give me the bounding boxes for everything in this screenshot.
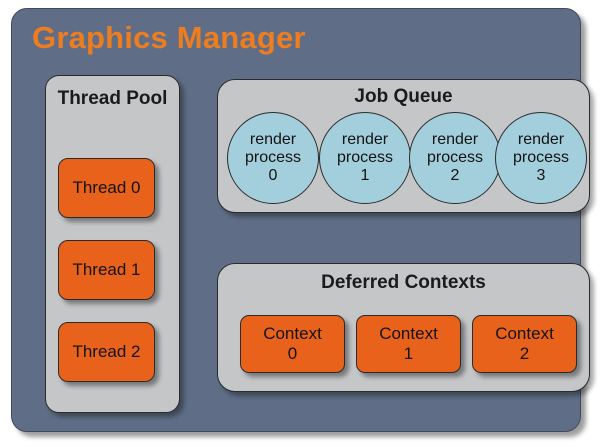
context-box-1[interactable]: Context 1 — [356, 315, 461, 373]
render-process-line2: process — [513, 149, 569, 167]
deferred-contexts-title: Deferred Contexts — [218, 272, 589, 294]
context-box-0[interactable]: Context 0 — [240, 315, 345, 373]
context-index: 0 — [288, 344, 297, 364]
job-queue-panel: Job Queue render process 0 render proces… — [217, 79, 590, 213]
render-process-index: 0 — [269, 167, 278, 185]
render-process-index: 2 — [451, 167, 460, 185]
render-process-node-1[interactable]: render process 1 — [319, 112, 411, 204]
graphics-manager-panel: Graphics Manager Thread Pool Thread 0 Th… — [11, 8, 581, 432]
graphics-manager-title: Graphics Manager — [32, 20, 306, 56]
context-label: Context — [495, 324, 554, 344]
render-process-line1: render — [432, 131, 478, 149]
context-label: Context — [379, 324, 438, 344]
thread-label: Thread 1 — [72, 260, 140, 280]
render-process-line2: process — [427, 149, 483, 167]
render-process-index: 1 — [361, 167, 370, 185]
render-process-line2: process — [337, 149, 393, 167]
context-label: Context — [263, 324, 322, 344]
thread-pool-title: Thread Pool — [46, 88, 179, 110]
render-process-line1: render — [518, 131, 564, 149]
context-index: 2 — [520, 344, 529, 364]
thread-box-2[interactable]: Thread 2 — [58, 322, 155, 382]
thread-label: Thread 2 — [72, 342, 140, 362]
context-index: 1 — [404, 344, 413, 364]
context-box-2[interactable]: Context 2 — [472, 315, 577, 373]
render-process-node-2[interactable]: render process 2 — [409, 112, 501, 204]
deferred-contexts-panel: Deferred Contexts Context 0 Context 1 Co… — [217, 263, 590, 392]
thread-box-1[interactable]: Thread 1 — [58, 240, 155, 300]
job-queue-title: Job Queue — [218, 86, 589, 108]
thread-box-0[interactable]: Thread 0 — [58, 158, 155, 218]
render-process-node-0[interactable]: render process 0 — [227, 112, 319, 204]
render-process-node-3[interactable]: render process 3 — [495, 112, 587, 204]
thread-pool-panel: Thread Pool Thread 0 Thread 1 Thread 2 — [45, 75, 180, 413]
render-process-index: 3 — [537, 167, 546, 185]
render-process-line2: process — [245, 149, 301, 167]
render-process-line1: render — [342, 131, 388, 149]
render-process-line1: render — [250, 131, 296, 149]
diagram-canvas: Graphics Manager Thread Pool Thread 0 Th… — [0, 0, 604, 447]
thread-label: Thread 0 — [72, 178, 140, 198]
